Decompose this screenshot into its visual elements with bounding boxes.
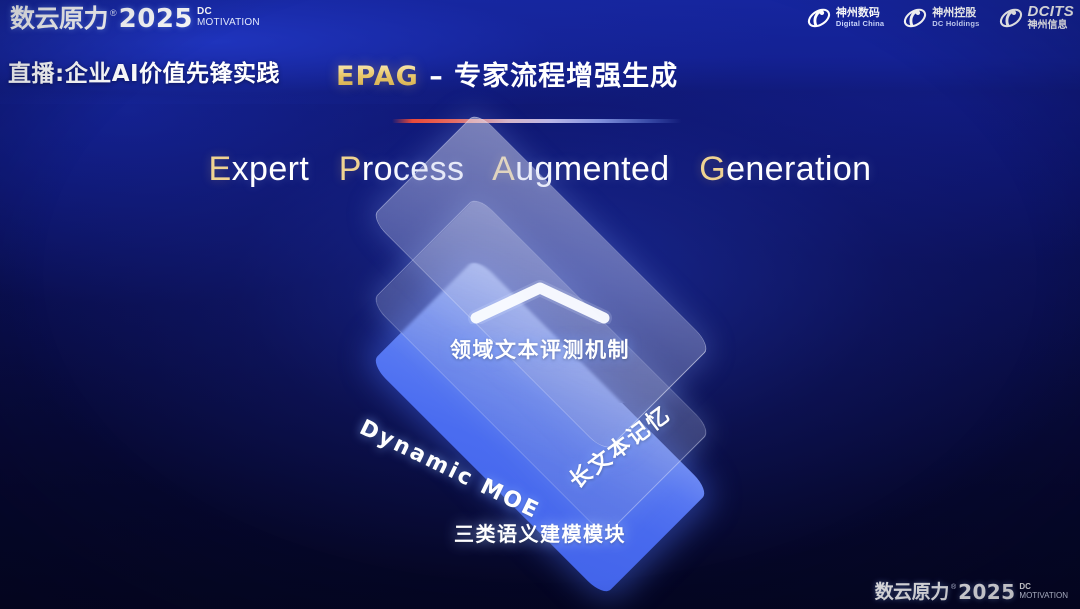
subtitle-word-expert: Expert xyxy=(209,150,310,188)
stack-layer-top-label: 领域文本评测机制 xyxy=(287,334,793,364)
gradient-divider xyxy=(392,119,682,123)
swirl-logo-icon xyxy=(902,5,928,31)
watermark-dc-line2: MOTIVATION xyxy=(1019,591,1068,600)
swirl-logo-icon xyxy=(998,5,1024,31)
subtitle-initial: E xyxy=(209,150,232,188)
stack-layer-bottom-label: 三类语义建模模块 xyxy=(287,518,793,547)
watermark-dc-motivation: DC MOTIVATION xyxy=(1019,583,1068,600)
brand-year: 2025 xyxy=(119,5,193,33)
partner-logo-text: 神州数码 Digital China xyxy=(836,7,884,28)
subtitle-initial: P xyxy=(339,150,362,188)
partner-logo-dcits: DCITS 神州信息 xyxy=(998,4,1075,31)
subtitle-space xyxy=(679,150,689,188)
brand-dc-motivation: DC MOTIVATION xyxy=(197,7,260,28)
partner-name-en: Digital China xyxy=(836,19,884,28)
brand-lockup: 数云原力 ® 2025 DC MOTIVATION xyxy=(10,5,260,33)
watermark-dc-line1: DC xyxy=(1019,583,1068,591)
partner-name-cn: 神州控股 xyxy=(932,7,979,19)
brand-dc-line2: MOTIVATION xyxy=(197,17,260,28)
page-title: EPAG – 专家流程增强生成 xyxy=(336,54,678,93)
partner-logo-dc-holdings: 神州控股 DC Holdings xyxy=(902,5,979,31)
headline-chinese: 专家流程增强生成 xyxy=(454,61,678,92)
partner-logo-text: DCITS 神州信息 xyxy=(1028,4,1075,31)
brand-dc-line1: DC xyxy=(197,7,260,17)
brand-registered-mark: ® xyxy=(110,7,117,19)
partner-name-en: DC Holdings xyxy=(932,19,979,28)
watermark-registered-mark: ® xyxy=(951,583,956,593)
partner-logo-digital-china: 神州数码 Digital China xyxy=(806,5,884,31)
subtitle-word-rest: eneration xyxy=(726,150,871,188)
layer-stack-diagram: 领域文本评测机制 Dynamic MOE 长文本记忆 三类语义建模模块 xyxy=(287,228,793,578)
swirl-logo-icon xyxy=(806,5,832,31)
partner-name-cn: 神州数码 xyxy=(836,7,884,19)
brand-name-cn: 数云原力 xyxy=(10,5,108,33)
subtitle-word-rest: xpert xyxy=(232,150,310,188)
footer-watermark: 数云原力 ® 2025 DC MOTIVATION xyxy=(875,582,1068,603)
headline-separator: – xyxy=(419,61,454,92)
watermark-name-cn: 数云原力 xyxy=(875,582,949,603)
subtitle-space xyxy=(319,150,329,188)
partner-name-cn: 神州信息 xyxy=(1028,20,1075,31)
chevron-up-icon xyxy=(468,280,612,324)
slide-canvas: 数云原力 ® 2025 DC MOTIVATION 直播:企业AI价值先锋实践 … xyxy=(0,0,1080,609)
partner-logo-row: 神州数码 Digital China 神州控股 DC Holdings xyxy=(806,4,1074,31)
subtitle-word-generation: Generation xyxy=(699,150,871,188)
headline-acronym: EPAG xyxy=(336,61,419,92)
watermark-year: 2025 xyxy=(958,582,1015,603)
subtitle-initial: G xyxy=(699,150,726,188)
partner-logo-text: 神州控股 DC Holdings xyxy=(932,7,979,28)
live-session-title: 直播:企业AI价值先锋实践 xyxy=(8,54,280,88)
partner-name-en: DCITS xyxy=(1028,4,1075,20)
